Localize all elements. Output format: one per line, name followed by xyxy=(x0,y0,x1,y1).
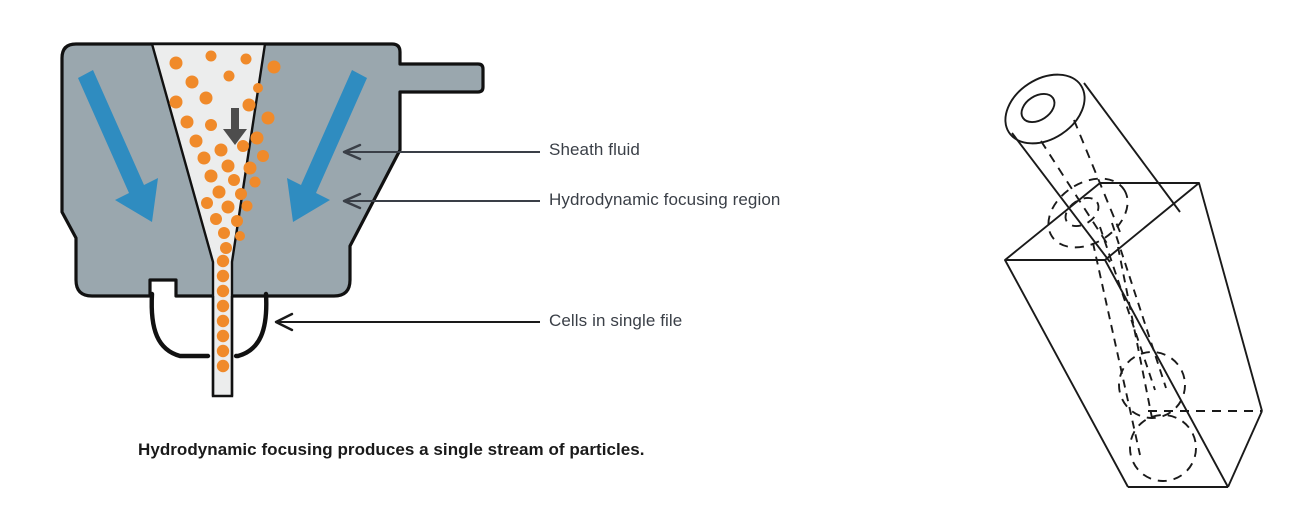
injection-tube-cylinder xyxy=(993,60,1180,262)
quartz-cuvette-prism xyxy=(1005,183,1262,487)
left-diagram-svg xyxy=(0,0,1300,510)
hidden-nozzle-taper xyxy=(1036,120,1141,262)
leader-line-single-file xyxy=(276,314,540,330)
figure-root: Sheath fluid Hydrodynamic focusing regio… xyxy=(0,0,1300,510)
tube-bore-opening xyxy=(1016,88,1059,128)
label-sheath-fluid: Sheath fluid xyxy=(549,140,640,160)
label-cells-in-single-file: Cells in single file xyxy=(549,311,682,331)
hidden-core-stream xyxy=(1093,223,1166,455)
figure-caption: Hydrodynamic focusing produces a single … xyxy=(138,440,645,460)
flow-cell-3d-line-drawing xyxy=(993,60,1262,487)
nozzle-outlet xyxy=(152,294,267,396)
label-hydrodynamic-focusing-region: Hydrodynamic focusing region xyxy=(549,190,780,210)
